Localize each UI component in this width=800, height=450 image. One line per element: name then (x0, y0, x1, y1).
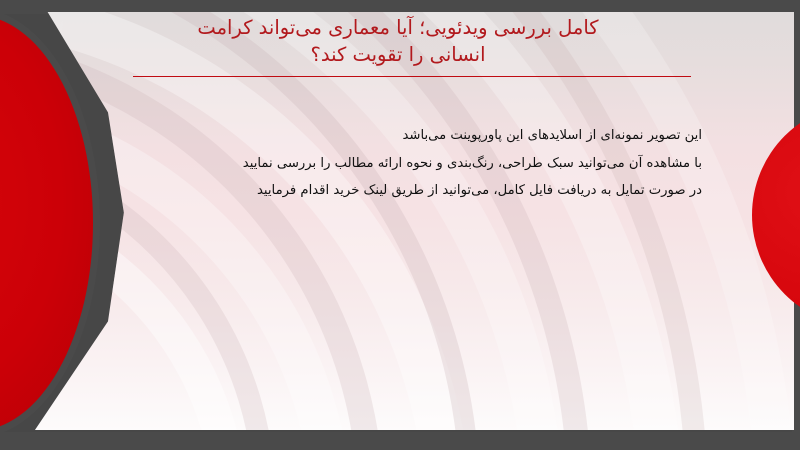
slide-title-line-1: کامل بررسی ویدئویی؛ آیا معماری می‌تواند … (108, 14, 688, 41)
slide-title: کامل بررسی ویدئویی؛ آیا معماری می‌تواند … (108, 14, 688, 68)
slide-frame-top (0, 0, 800, 14)
title-underline-rule (133, 76, 691, 77)
background-arc-ring (0, 12, 708, 430)
slide-title-line-2: انسانی را تقویت کند؟ (108, 41, 688, 68)
presentation-slide: کامل بررسی ویدئویی؛ آیا معماری می‌تواند … (0, 0, 800, 450)
background-arc-pattern (0, 12, 794, 430)
slide-body-line-3: در صورت تمایل به دریافت فایل کامل، می‌تو… (82, 177, 702, 205)
slide-frame-bottom (0, 432, 800, 450)
slide-content-panel (0, 12, 794, 430)
background-arc-ring (0, 12, 684, 430)
slide-body-text: این تصویر نمونه‌ای از اسلایدهای این پاور… (82, 122, 702, 205)
slide-body-line-1: این تصویر نمونه‌ای از اسلایدهای این پاور… (82, 122, 702, 150)
background-arc-ring (0, 12, 794, 430)
slide-body-line-2: با مشاهده آن می‌توانید سبک طراحی، رنگ‌بن… (82, 150, 702, 178)
